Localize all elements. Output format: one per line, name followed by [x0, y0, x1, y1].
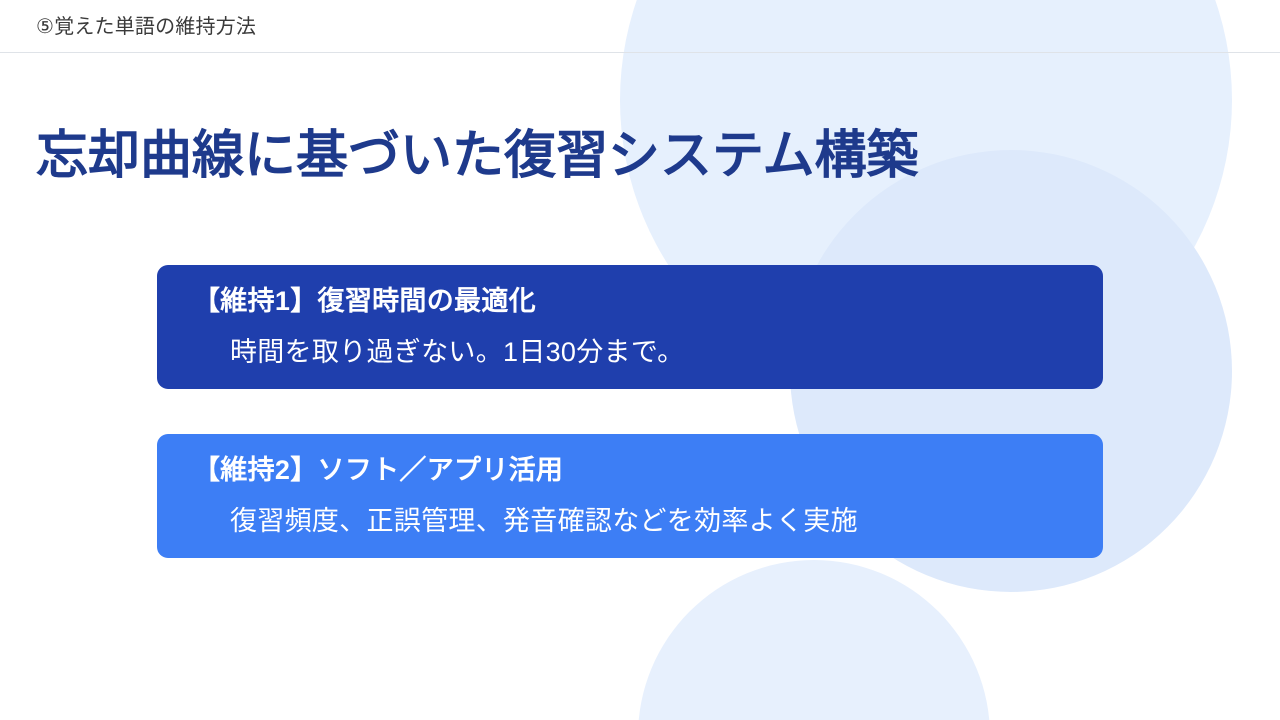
page-title: 忘却曲線に基づいた復習システム構築 — [36, 123, 918, 189]
header-section-label: ⑤覚えた単語の維持方法 — [36, 13, 256, 41]
slide-root: ⑤覚えた単語の維持方法 忘却曲線に基づいた復習システム構築 【維持1】復習時間の… — [0, 0, 1280, 720]
card-body-text: 復習頻度、正誤管理、発音確認などを効率よく実施 — [193, 502, 1077, 540]
card-body-text: 時間を取り過ぎない。1日30分まで。 — [193, 333, 1077, 371]
card-list: 【維持1】復習時間の最適化 時間を取り過ぎない。1日30分まで。 【維持2】ソフ… — [157, 265, 1103, 558]
card-maintenance-1: 【維持1】復習時間の最適化 時間を取り過ぎない。1日30分まで。 — [157, 265, 1103, 389]
card-maintenance-2: 【維持2】ソフト／アプリ活用 復習頻度、正誤管理、発音確認などを効率よく実施 — [157, 434, 1103, 558]
slide-header: ⑤覚えた単語の維持方法 — [0, 0, 1280, 53]
decor-circle-bottom-icon — [638, 560, 990, 720]
card-heading: 【維持2】ソフト／アプリ活用 — [193, 450, 1077, 490]
card-heading: 【維持1】復習時間の最適化 — [193, 281, 1077, 321]
